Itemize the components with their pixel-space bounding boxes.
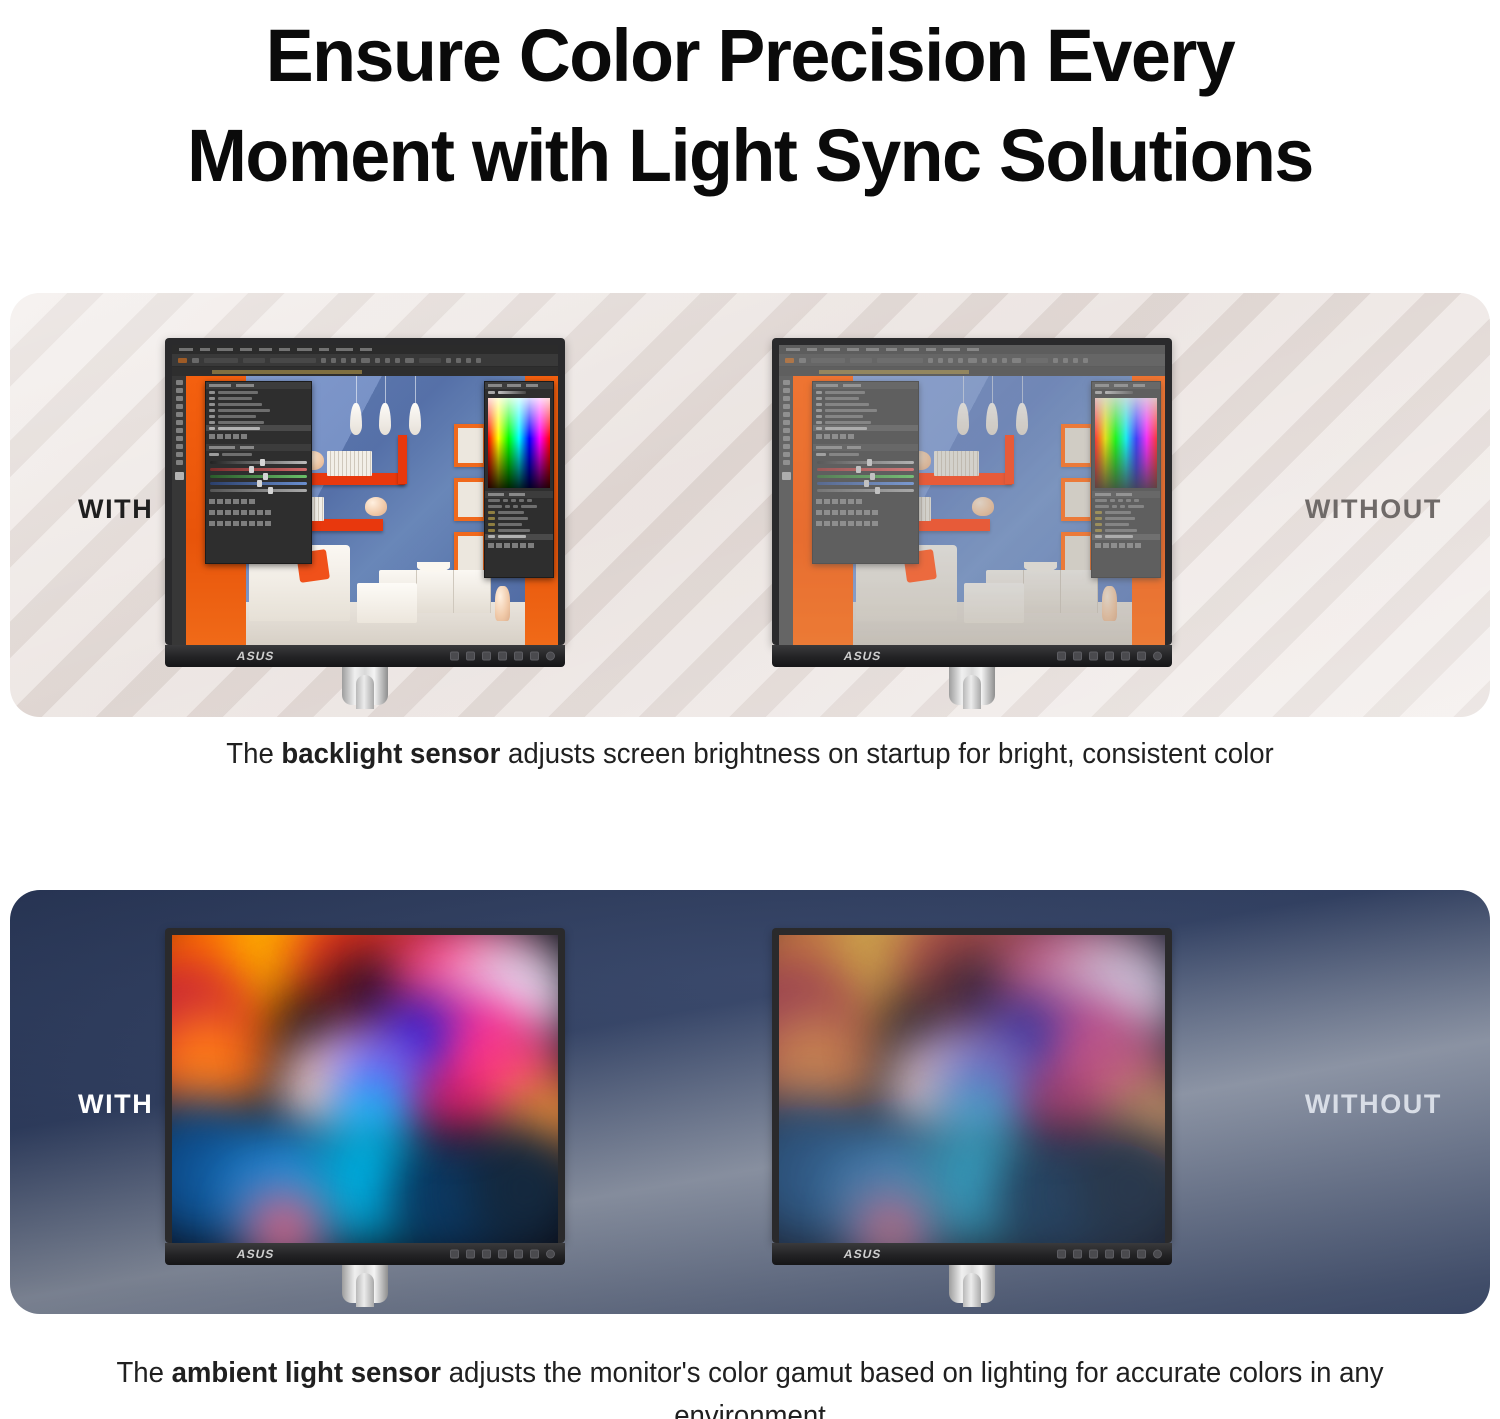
photoshop-menu-bar [172, 345, 558, 354]
photoshop-toolbar[interactable] [172, 376, 186, 645]
caption-prefix: The [226, 738, 281, 770]
label-without-ambient: WITHOUT [1305, 1089, 1442, 1120]
headline-line-1: Ensure Color Precision Every [266, 14, 1235, 97]
monitor-bottom-bezel: ASUS [165, 645, 565, 667]
abstract-silk-wallpaper [172, 935, 558, 1243]
monitor-bezel [772, 338, 1172, 645]
caption-suffix: adjusts screen brightness on startup for… [500, 738, 1273, 770]
monitor-screen-with [172, 345, 558, 645]
monitor-bezel [772, 928, 1172, 1243]
monitor-with-backlight: ASUS [165, 338, 565, 705]
monitor-stand [949, 667, 995, 705]
photoshop-desktop [172, 345, 558, 645]
caption-bold: ambient light sensor [172, 1357, 441, 1389]
photoshop-canvas [186, 376, 558, 645]
ambient-light-sensor-panel: ASUS [10, 890, 1490, 1314]
monitor-bottom-bezel: ASUS [772, 645, 1172, 667]
monitor-without-ambient: ASUS [772, 928, 1172, 1303]
asus-logo: ASUS [843, 1247, 883, 1261]
monitor-screen-without [779, 935, 1165, 1243]
monitor-stand [949, 1265, 995, 1303]
caption-backlight-sensor: The backlight sensor adjusts screen brig… [38, 733, 1463, 776]
osd-buttons[interactable] [1057, 1250, 1162, 1259]
monitor-stand [342, 1265, 388, 1303]
osd-buttons[interactable] [1057, 652, 1162, 661]
photoshop-desktop [779, 345, 1165, 645]
caption-bold: backlight sensor [281, 738, 500, 770]
photoshop-options-bar [779, 354, 1165, 367]
osd-buttons[interactable] [450, 1250, 555, 1259]
monitor-stand [342, 667, 388, 705]
color-picker-gamut[interactable] [1095, 398, 1158, 487]
label-without-backlight: WITHOUT [1305, 494, 1442, 525]
asus-logo: ASUS [236, 1247, 276, 1261]
caption-suffix: adjusts the monitor's color gamut based … [441, 1357, 1383, 1419]
photoshop-color-panel[interactable] [484, 381, 555, 577]
headline-line-2: Moment with Light Sync Solutions [23, 106, 1478, 206]
abstract-silk-wallpaper [779, 935, 1165, 1243]
photoshop-toolbar[interactable] [779, 376, 793, 645]
photoshop-layers-panel[interactable] [812, 381, 920, 564]
monitor-bezel [165, 928, 565, 1243]
monitor-bezel [165, 338, 565, 645]
monitor-without-backlight: ASUS [772, 338, 1172, 705]
product-feature-infographic: Ensure Color Precision Every Moment with… [0, 0, 1500, 1419]
backlight-sensor-panel: ASUS [10, 293, 1490, 717]
color-picker-gamut[interactable] [488, 398, 551, 487]
label-with-ambient: WITH [78, 1089, 153, 1120]
photoshop-canvas [793, 376, 1165, 645]
monitor-screen-without [779, 345, 1165, 645]
photoshop-options-bar [172, 354, 558, 367]
monitor-bottom-bezel: ASUS [772, 1243, 1172, 1265]
monitor-with-ambient: ASUS [165, 928, 565, 1303]
asus-logo: ASUS [236, 649, 276, 663]
page-title: Ensure Color Precision Every Moment with… [23, 6, 1478, 206]
caption-prefix: The [116, 1357, 171, 1389]
osd-buttons[interactable] [450, 652, 555, 661]
asus-logo: ASUS [843, 649, 883, 663]
photoshop-layers-panel[interactable] [205, 381, 313, 564]
photoshop-menu-bar [779, 345, 1165, 354]
photoshop-color-panel[interactable] [1091, 381, 1162, 577]
photoshop-document-tab[interactable] [172, 367, 558, 376]
monitor-bottom-bezel: ASUS [165, 1243, 565, 1265]
caption-ambient-light-sensor: The ambient light sensor adjusts the mon… [38, 1352, 1463, 1419]
label-with-backlight: WITH [78, 494, 153, 525]
monitor-screen-with [172, 935, 558, 1243]
photoshop-document-tab[interactable] [779, 367, 1165, 376]
